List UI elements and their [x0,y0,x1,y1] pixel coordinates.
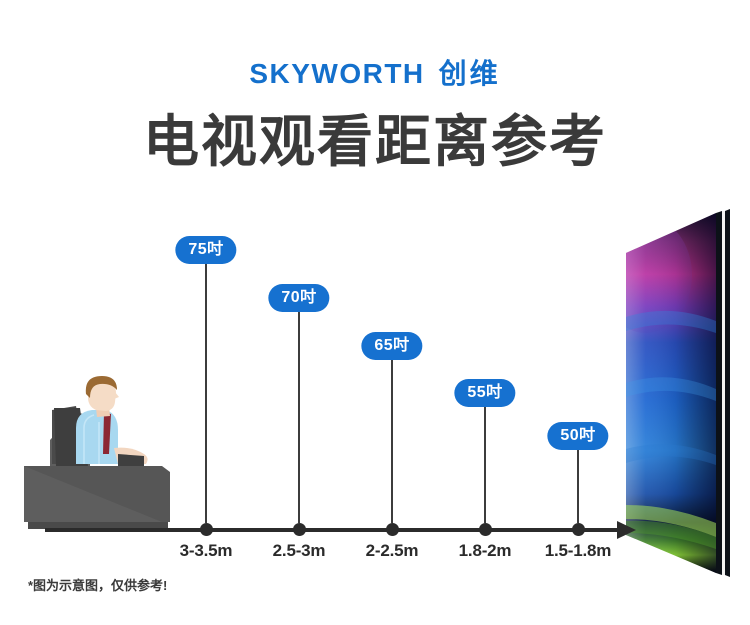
size-badge-65吋: 65吋 [361,332,422,360]
tv-bezel-highlight [722,211,725,575]
person-torso [76,410,118,464]
marker-dot-50吋 [572,523,585,536]
sofa-armrest-top [118,454,144,466]
size-badge-50吋: 50吋 [547,422,608,450]
seated-viewer-illustration [14,372,194,537]
size-badge-70吋: 70吋 [268,284,329,312]
marker-dot-70吋 [293,523,306,536]
marker-stem-70吋 [298,312,300,523]
marker-dot-75吋 [200,523,213,536]
tv-bezel-edge [716,211,722,575]
size-badge-75吋: 75吋 [175,236,236,264]
marker-stem-75吋 [205,264,207,523]
marker-stem-55吋 [484,407,486,523]
distance-label-50吋: 1.5-1.8m [545,541,611,561]
size-badge-55吋: 55吋 [454,379,515,407]
distance-axis-arrow-icon [617,521,636,539]
tv-bezel-back [725,209,730,577]
distance-diagram: 75吋3-3.5m70吋2.5-3m65吋2-2.5m55吋1.8-2m50吋1… [0,0,750,625]
distance-axis-line [45,528,623,532]
marker-dot-65吋 [386,523,399,536]
marker-stem-50吋 [577,450,579,523]
marker-stem-65吋 [391,360,393,523]
distance-label-70吋: 2.5-3m [273,541,326,561]
disclaimer-note: *图为示意图，仅供参考! [28,575,167,594]
marker-dot-55吋 [479,523,492,536]
distance-label-55吋: 1.8-2m [459,541,512,561]
viewer-svg [14,372,194,537]
infographic-page: SKYWORTH创维 电视观看距离参考 [0,0,750,625]
distance-label-75吋: 3-3.5m [180,541,233,561]
tv-screen-effects [612,213,716,573]
distance-label-65吋: 2-2.5m [366,541,419,561]
